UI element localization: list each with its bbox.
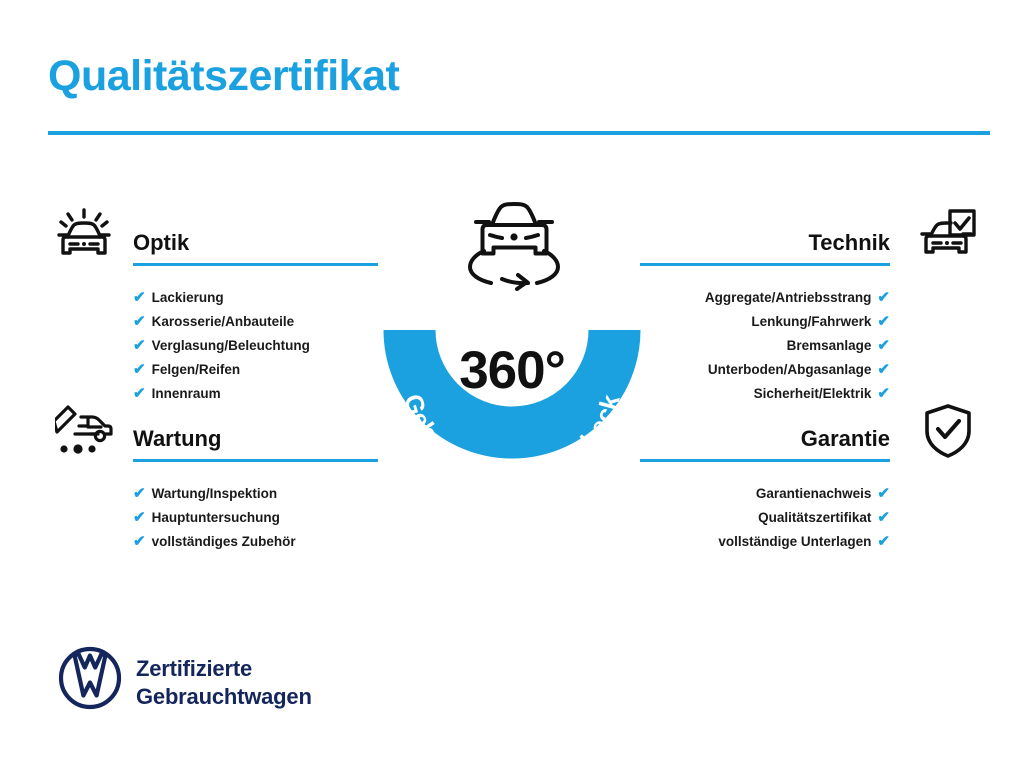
checklist-optik: ✔Lackierung ✔Karosserie/Anbauteile ✔Verg… [133, 286, 378, 406]
list-item: Aggregate/Antriebsstrang✔ [640, 286, 890, 310]
check-icon: ✔ [877, 358, 890, 382]
list-item-label: Bremsanlage [787, 338, 872, 353]
section-header: Optik [48, 204, 378, 280]
list-item-label: vollständiges Zubehör [152, 534, 296, 549]
list-item-label: vollständige Unterlagen [718, 534, 871, 549]
footer-brand-lockup: Zertifizierte Gebrauchtwagen [58, 646, 358, 718]
footer-line-1: Zertifizierte [136, 655, 312, 683]
list-item-label: Hauptuntersuchung [152, 510, 280, 525]
car-shine-icon [48, 204, 120, 266]
list-item: ✔Lackierung [133, 286, 378, 310]
footer-line-2: Gebrauchtwagen [136, 683, 312, 711]
list-item: Lenkung/Fahrwerk✔ [640, 310, 890, 334]
section-divider [133, 263, 378, 266]
section-divider [640, 459, 890, 462]
check-icon: ✔ [133, 334, 146, 358]
section-wartung: Wartung ✔Wartung/Inspektion ✔Hauptunters… [48, 400, 378, 476]
section-divider [133, 459, 378, 462]
list-item: Qualitätszertifikat✔ [640, 506, 890, 530]
check-icon: ✔ [133, 530, 146, 554]
section-technik: Technik Aggregate/Antriebsstrang✔ Lenkun… [640, 204, 984, 280]
list-item-label: Felgen/Reifen [152, 362, 241, 377]
section-optik: Optik ✔Lackierung ✔Karosserie/Anbauteile… [48, 204, 378, 280]
pencil-car-icon [48, 400, 120, 462]
car-rotate-360-icon [462, 195, 566, 291]
list-item-label: Innenraum [152, 386, 221, 401]
list-item-label: Unterboden/Abgasanlage [708, 362, 872, 377]
section-header: Technik [640, 204, 984, 280]
list-item: ✔vollständiges Zubehör [133, 530, 378, 554]
check-icon: ✔ [133, 482, 146, 506]
check-icon: ✔ [877, 482, 890, 506]
list-item-label: Verglasung/Beleuchtung [152, 338, 310, 353]
check-icon: ✔ [133, 310, 146, 334]
checklist-garantie: Garantienachweis✔ Qualitätszertifikat✔ v… [640, 482, 890, 554]
section-title: Technik [640, 232, 890, 254]
list-item-label: Karosserie/Anbauteile [152, 314, 295, 329]
check-icon: ✔ [877, 506, 890, 530]
check-icon: ✔ [133, 286, 146, 310]
section-divider [640, 263, 890, 266]
list-item: ✔Wartung/Inspektion [133, 482, 378, 506]
check-icon: ✔ [877, 530, 890, 554]
list-item: Garantienachweis✔ [640, 482, 890, 506]
car-checkbox-icon [912, 204, 984, 266]
list-item: ✔Hauptuntersuchung [133, 506, 378, 530]
list-item-label: Qualitätszertifikat [758, 510, 871, 525]
section-title: Wartung [133, 428, 378, 450]
list-item-label: Lackierung [152, 290, 224, 305]
check-icon: ✔ [133, 506, 146, 530]
list-item-label: Garantienachweis [756, 486, 872, 501]
list-item: ✔Karosserie/Anbauteile [133, 310, 378, 334]
page-title: Qualitätszertifikat [48, 52, 399, 101]
badge-degrees-label: 360° [370, 340, 654, 401]
list-item-label: Aggregate/Antriebsstrang [705, 290, 872, 305]
section-garantie: Garantie Garantienachweis✔ Qualitätszert… [640, 400, 984, 476]
list-item: vollständige Unterlagen✔ [640, 530, 890, 554]
list-item-label: Wartung/Inspektion [152, 486, 278, 501]
check-icon: ✔ [133, 358, 146, 382]
footer-wordmark: Zertifizierte Gebrauchtwagen [136, 655, 312, 711]
section-header: Garantie [640, 400, 984, 476]
360-check-badge: Gebrauchtwagen-Check 360° [370, 190, 654, 500]
list-item: ✔Felgen/Reifen [133, 358, 378, 382]
list-item: ✔Verglasung/Beleuchtung [133, 334, 378, 358]
check-icon: ✔ [877, 334, 890, 358]
list-item: Bremsanlage✔ [640, 334, 890, 358]
section-title: Optik [133, 232, 378, 254]
header-divider [48, 131, 990, 135]
section-title: Garantie [640, 428, 890, 450]
shield-check-icon [912, 400, 984, 462]
check-icon: ✔ [877, 286, 890, 310]
section-header: Wartung [48, 400, 378, 476]
list-item-label: Sicherheit/Elektrik [754, 386, 872, 401]
list-item: Unterboden/Abgasanlage✔ [640, 358, 890, 382]
volkswagen-logo [58, 646, 122, 710]
list-item-label: Lenkung/Fahrwerk [751, 314, 871, 329]
check-icon: ✔ [877, 310, 890, 334]
checklist-wartung: ✔Wartung/Inspektion ✔Hauptuntersuchung ✔… [133, 482, 378, 554]
checklist-technik: Aggregate/Antriebsstrang✔ Lenkung/Fahrwe… [640, 286, 890, 406]
